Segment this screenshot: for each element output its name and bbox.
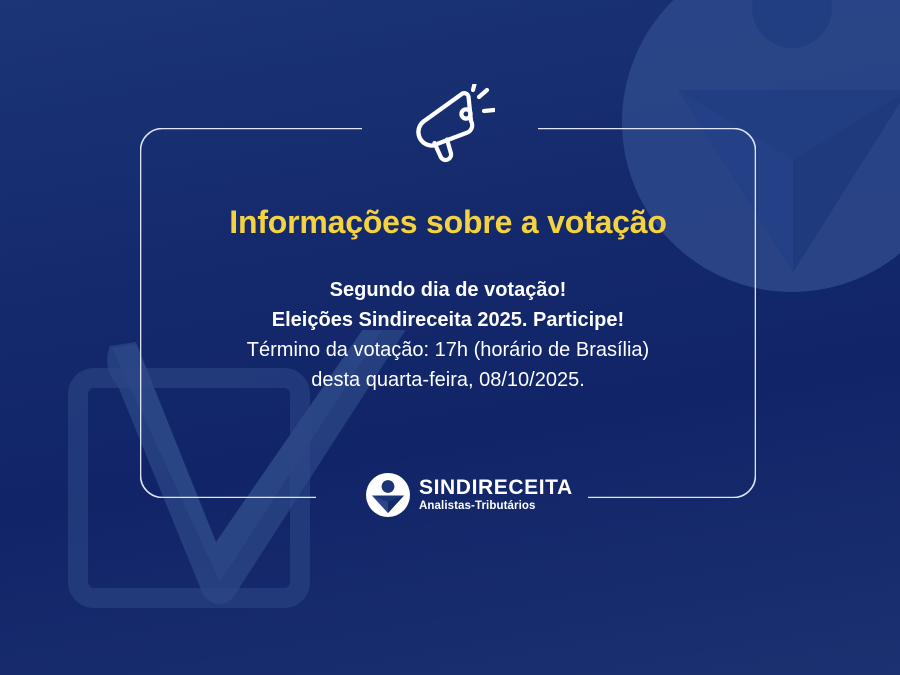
body-line-4: desta quarta-feira, 08/10/2025. (247, 365, 649, 395)
person-head-watermark (752, 0, 832, 48)
body-line-2: Eleições Sindireceita 2025. Participe! (247, 305, 649, 335)
poster-content: Informações sobre a votação Segundo dia … (140, 128, 756, 498)
sindireceita-logo: SINDIRECEITA Analistas-Tributários (366, 473, 573, 517)
body-line-3: Término da votação: 17h (horário de Bras… (247, 335, 649, 365)
body-line-1: Segundo dia de votação! (247, 275, 649, 305)
poster-canvas: Informações sobre a votação Segundo dia … (0, 0, 900, 675)
page-title: Informações sobre a votação (229, 204, 666, 241)
logo-subtitle: Analistas-Tributários (419, 501, 573, 513)
logo-wordmark: SINDIRECEITA Analistas-Tributários (419, 477, 573, 513)
logo-name: SINDIRECEITA (419, 477, 573, 498)
poster-body: Segundo dia de votação! Eleições Sindire… (247, 275, 649, 395)
sindireceita-person-icon (366, 473, 410, 517)
